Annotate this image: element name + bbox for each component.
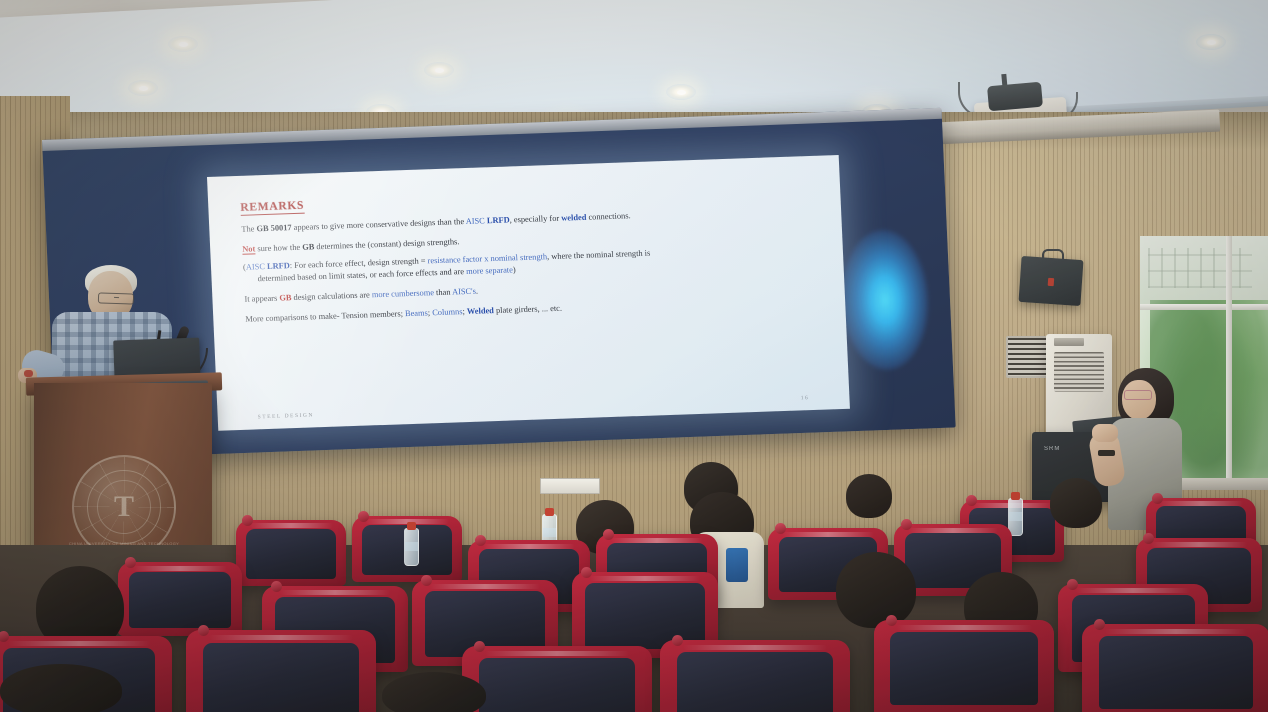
slide-text-segment: appears to give more conservative design… (291, 217, 466, 232)
slide-page-number: 16 (801, 395, 810, 401)
projector-body (987, 82, 1043, 112)
slide-text-segment: The (241, 224, 257, 234)
slide-text-segment: Not (242, 244, 255, 254)
wall-sign (540, 478, 600, 494)
slide-text-segment: It appears (244, 293, 279, 303)
slide-text-segment: design calculations are (291, 290, 372, 302)
seat (874, 620, 1054, 712)
slide-text-segment: more cumbersome (372, 288, 434, 299)
presenter-glasses-icon (98, 292, 134, 304)
seat (1082, 624, 1268, 712)
window-view-building (1140, 236, 1268, 310)
slide-text-segment: determines the (constant) design strengt… (314, 237, 459, 251)
slide-heading: REMARKS (240, 200, 304, 216)
slide-text-segment: , where the nominal strength is (547, 248, 651, 261)
ac-control-panel[interactable] (1054, 338, 1084, 346)
wall-speaker-icon (1018, 256, 1083, 306)
slide-text-segment: . (476, 286, 478, 295)
ac-grille (1054, 352, 1104, 392)
attendee-standing-hands (1092, 424, 1118, 442)
slide-text-segment: welded (561, 213, 587, 223)
audience-head (846, 474, 892, 518)
lecture-hall-photo: REMARKS The GB 50017 appears to give mor… (0, 0, 1268, 712)
ceiling-downlight (424, 62, 454, 78)
slide-text-segment: GB 50017 (256, 223, 292, 233)
ceiling-downlight (1196, 34, 1226, 50)
slide-text-segment: LRFD (487, 215, 510, 225)
ceiling-downlight (128, 80, 158, 96)
slide-text-segment: resistance factor x nominal strength (427, 252, 547, 265)
slide-text-segment: plate girders, ... etc. (494, 303, 563, 314)
slide-text-segment: GB (279, 293, 292, 302)
ceiling-downlight (168, 36, 198, 52)
slide-content: REMARKS The GB 50017 appears to give mor… (240, 178, 805, 325)
slide-text-segment: AISC (246, 262, 265, 272)
slide-text-segment: than (434, 287, 453, 297)
window-mullion (1140, 304, 1268, 310)
slide-text-segment: More comparisons to make- Tension member… (245, 309, 405, 324)
slide-text-segment: ) (513, 265, 516, 274)
attendee-glasses-icon (1124, 390, 1152, 400)
attendee-standing-face (1122, 380, 1156, 420)
audience-head (382, 672, 486, 712)
seat (660, 640, 850, 712)
emblem-inner-ring (97, 480, 151, 534)
slide-text-segment: GB (302, 242, 315, 251)
screen-hotspot-glow (839, 228, 931, 371)
slide-text-segment: Beams (405, 308, 428, 318)
slide-text-segment: sure how the (255, 243, 302, 254)
seat (236, 520, 346, 586)
slide-text-segment: , especially for (509, 214, 561, 225)
window-mullion (1226, 236, 1232, 486)
seat (118, 562, 242, 636)
slide-footer-title: STEEL DESIGN (258, 412, 315, 420)
audience-badge (726, 548, 748, 582)
water-bottle (404, 528, 419, 566)
slide-text-segment: AISC (466, 216, 485, 226)
projected-slide: REMARKS The GB 50017 appears to give mor… (207, 155, 850, 431)
presenter-held-object (24, 370, 33, 377)
slide-text-segment: Welded (467, 306, 494, 316)
slide-text-segment: Columns (432, 307, 463, 317)
seat (186, 630, 376, 712)
attendee-wristwatch (1098, 450, 1115, 456)
slide-text-segment: LRFD (267, 261, 290, 271)
university-emblem-icon: T CHINA UNIVERSITY OF MINING AND TECHNOL… (72, 455, 176, 559)
audience-head (1050, 478, 1102, 528)
audience-head (836, 552, 916, 628)
ceiling-downlight (666, 84, 696, 100)
slide-text-segment: connections. (586, 211, 631, 222)
slide-text-segment: more separate (466, 265, 513, 276)
slide-text-segment: AISC's (452, 286, 476, 296)
audience-head (0, 664, 122, 712)
seat (462, 646, 652, 712)
av-rack-label: SRM (1044, 446, 1060, 452)
